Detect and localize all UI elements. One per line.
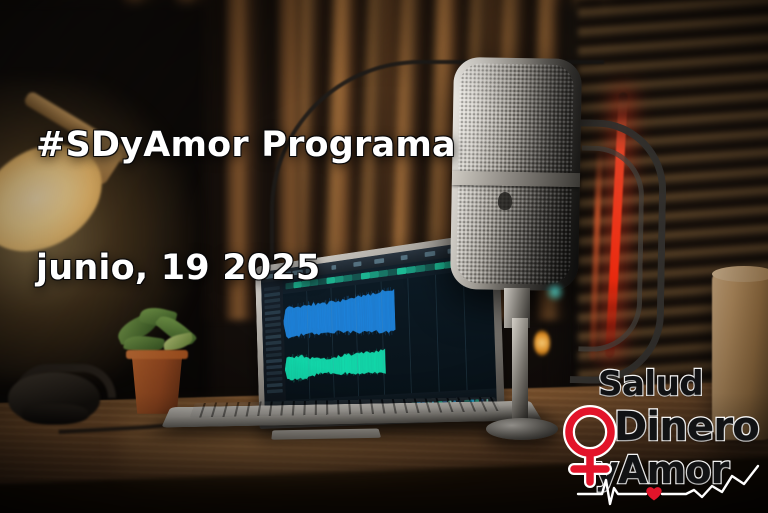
microphone-band bbox=[452, 171, 580, 187]
microphone-stand-base bbox=[486, 418, 558, 440]
daw-track-row bbox=[267, 389, 283, 393]
microphone-capsule-badge bbox=[498, 192, 512, 210]
daw-grid-line bbox=[463, 271, 468, 390]
microphone-stand-stem bbox=[512, 318, 528, 428]
heart-icon bbox=[646, 487, 661, 500]
heartbeat-line-icon bbox=[576, 464, 768, 510]
brand-logo[interactable]: Salud Dinero yAmor bbox=[552, 364, 768, 510]
title-line-1: #SDyAmor Programa bbox=[36, 125, 456, 166]
logo-word-salud: Salud bbox=[598, 364, 703, 404]
coffee-mug-rim bbox=[712, 266, 768, 282]
amber-light-bokeh bbox=[534, 330, 550, 356]
daw-track-row bbox=[267, 383, 283, 387]
teal-light-bokeh bbox=[545, 282, 565, 302]
title-line-2: junio, 19 2025 bbox=[36, 248, 456, 289]
microphone-shock-mount-inner bbox=[578, 145, 645, 352]
page-title: #SDyAmor Programa junio, 19 2025 bbox=[36, 42, 456, 372]
logo-word-dinero: Dinero bbox=[614, 404, 759, 450]
daw-track-row bbox=[267, 377, 283, 382]
promo-banner: #SDyAmor Programa junio, 19 2025 Salud D… bbox=[0, 0, 768, 513]
